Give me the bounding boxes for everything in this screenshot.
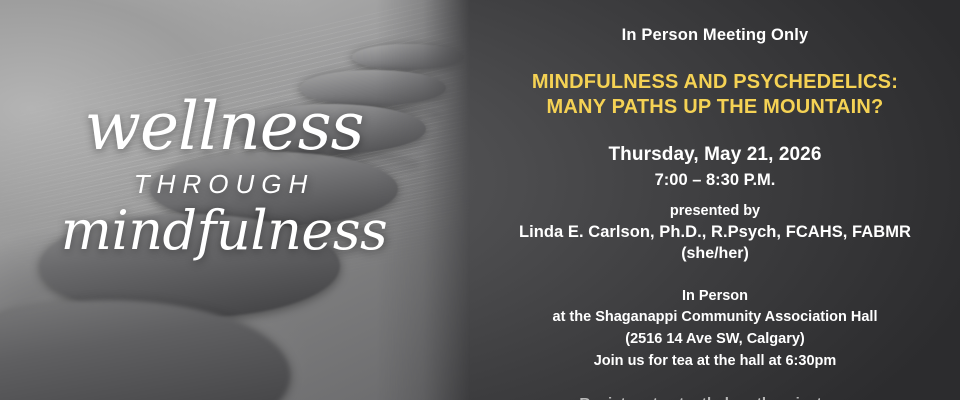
- registration-link[interactable]: Register at: wtm.thebreathproject.org: [579, 395, 850, 400]
- presented-by-label: presented by: [670, 203, 760, 219]
- logo-word-through: THROUGH: [0, 169, 448, 200]
- event-time: 7:00 – 8:30 P.M.: [655, 171, 776, 190]
- event-date: Thursday, May 21, 2026: [608, 144, 821, 166]
- logo-word-mindfulness: mindfulness: [0, 204, 448, 258]
- venue-format: In Person: [553, 286, 878, 308]
- venue-block: In Person at the Shaganappi Community As…: [553, 286, 878, 373]
- meeting-format-kicker: In Person Meeting Only: [622, 26, 809, 45]
- venue-address: (2516 14 Ave SW, Calgary): [553, 329, 878, 351]
- event-details: In Person Meeting Only MINDFULNESS AND P…: [470, 0, 960, 400]
- venue-name: at the Shaganappi Community Association …: [553, 307, 878, 329]
- event-title-line-1: MINDFULNESS AND PSYCHEDELICS:: [532, 70, 898, 95]
- stone: [352, 44, 464, 70]
- event-banner: wellness THROUGH mindfulness In Person M…: [0, 0, 960, 400]
- event-title-line-2: MANY PATHS UP THE MOUNTAIN?: [532, 95, 898, 120]
- speaker-pronouns: (she/her): [681, 245, 749, 263]
- event-title: MINDFULNESS AND PSYCHEDELICS: MANY PATHS…: [532, 70, 898, 120]
- brand-logo: wellness THROUGH mindfulness: [0, 96, 448, 258]
- logo-word-wellness: wellness: [0, 96, 448, 159]
- speaker-name: Linda E. Carlson, Ph.D., R.Psych, FCAHS,…: [519, 223, 911, 242]
- venue-tea-note: Join us for tea at the hall at 6:30pm: [553, 351, 878, 373]
